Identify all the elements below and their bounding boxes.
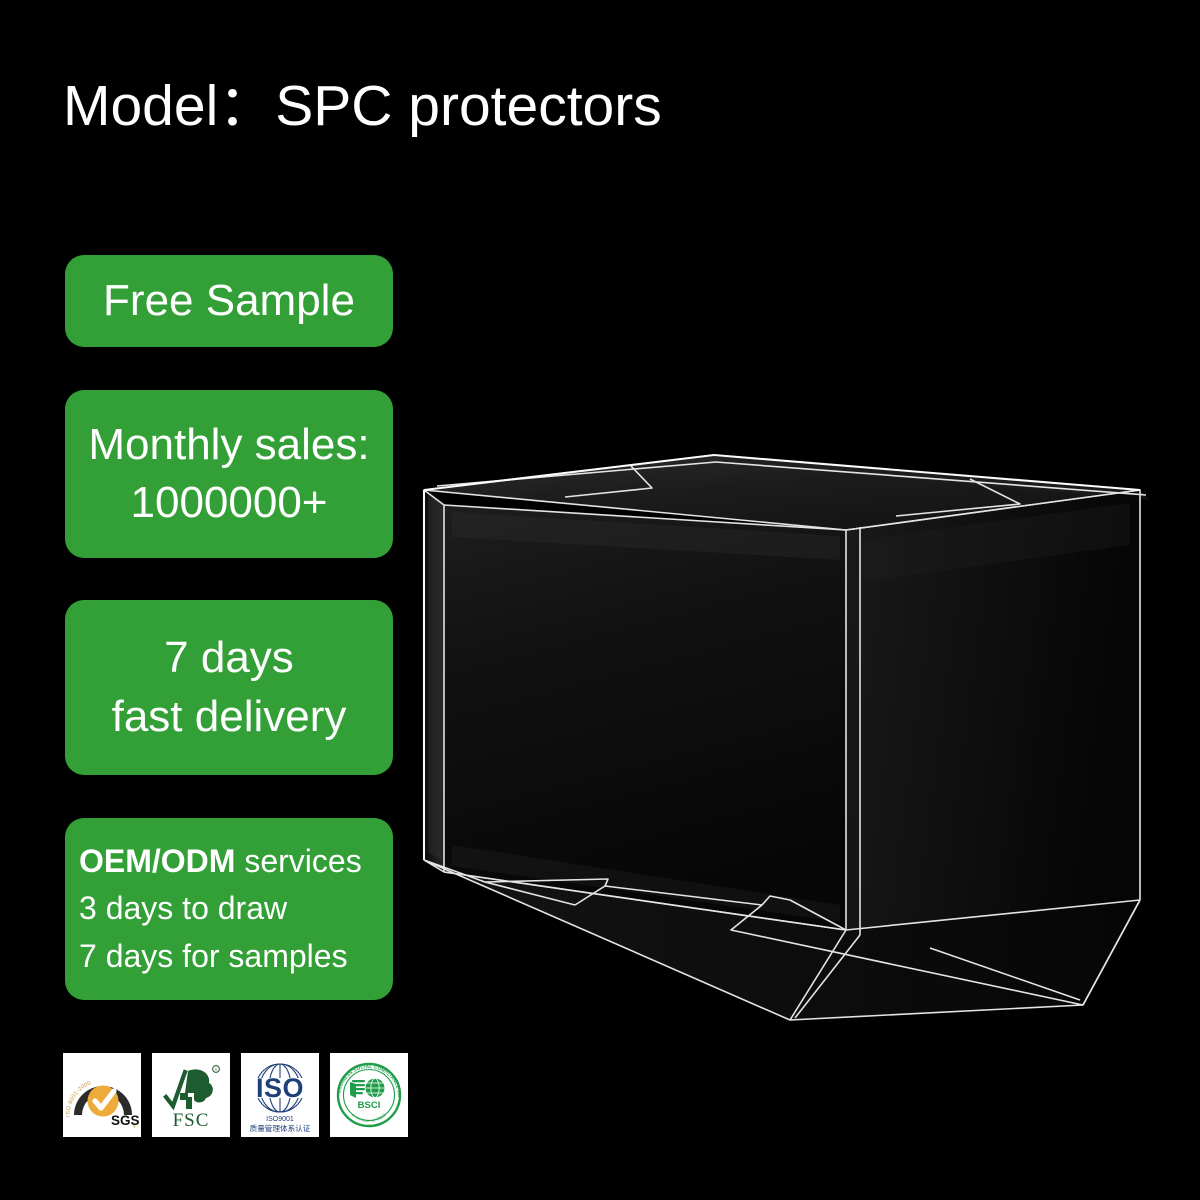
badge-oem-odm-emphasis: OEM/ODM [79,843,235,879]
badge-oem-odm-line-1-rest: services [235,843,361,879]
badge-free-sample-line-1: Free Sample [103,278,355,324]
promo-canvas: Model：SPC protectors [0,0,1200,1200]
bsci-seal-icon: BUSINESS SOCIAL COMPLIANCE INITIATIVE a … [330,1053,408,1137]
fsc-forest-icon: R FSC [152,1053,230,1137]
certification-logo-row: SYSTEM CERTIFICATION ISO 9001-2000 SGS ® [63,1053,408,1137]
svg-text:质量管理体系认证: 质量管理体系认证 [250,1123,311,1133]
badge-monthly-sales-line-2: 1000000+ [131,474,328,532]
svg-text:ISO9001: ISO9001 [266,1116,294,1123]
badge-fast-delivery-line-1: 7 days [164,629,294,687]
badge-oem-odm-line-1: OEM/ODM services [79,838,362,885]
badge-oem-odm[interactable]: OEM/ODM services 3 days to draw 7 days f… [65,818,393,1000]
svg-text:ISO: ISO [256,1073,304,1103]
badge-fast-delivery[interactable]: 7 days fast delivery [65,600,393,775]
badge-fast-delivery-line-2: fast delivery [112,688,347,746]
badge-oem-odm-line-3: 7 days for samples [79,933,348,980]
sgs-certification-icon: SYSTEM CERTIFICATION ISO 9001-2000 SGS ® [63,1053,141,1137]
svg-text:FSC: FSC [173,1110,210,1131]
iso-globe-icon: ISO ISO9001 质量管理体系认证 [241,1053,319,1137]
badge-free-sample[interactable]: Free Sample [65,255,393,347]
badge-monthly-sales-line-1: Monthly sales: [88,416,369,474]
badge-monthly-sales[interactable]: Monthly sales: 1000000+ [65,390,393,558]
svg-text:®: ® [133,1124,136,1129]
badge-oem-odm-line-2: 3 days to draw [79,885,287,932]
svg-text:BSCI: BSCI [358,1100,381,1111]
